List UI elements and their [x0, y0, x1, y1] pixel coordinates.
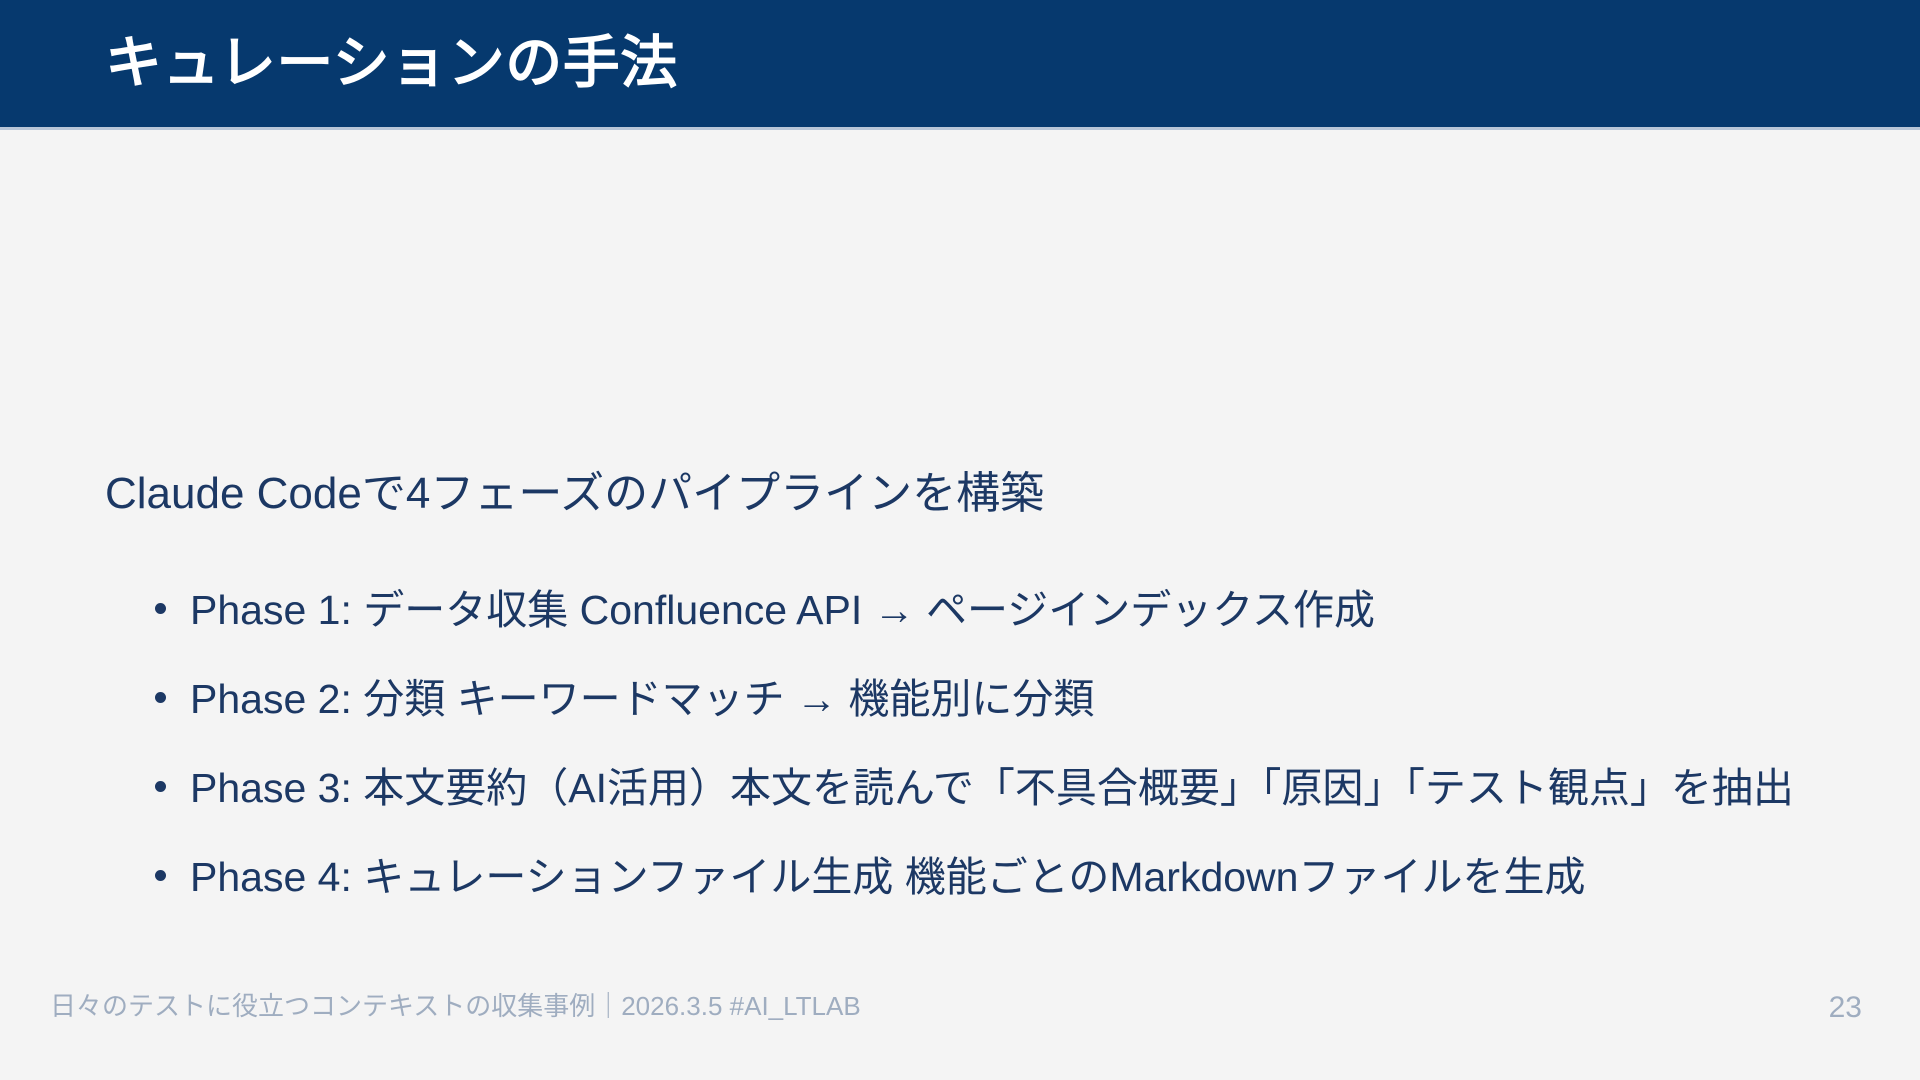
list-item: Phase 2: 分類 キーワードマッチ → 機能別に分類: [155, 652, 1794, 741]
presentation-slide: キュレーションの手法 Claude Codeで4フェーズのパイプラインを構築 P…: [0, 0, 1920, 1080]
footer-caption: 日々のテストに役立つコンテキストの収集事例｜2026.3.5 #AI_LTLAB: [50, 991, 861, 1022]
page-title: キュレーションの手法: [0, 34, 678, 94]
bullet-dot-icon: [155, 870, 166, 881]
page-number: 23: [1829, 990, 1862, 1026]
bullet-dot-icon: [155, 781, 166, 792]
list-item-label: Phase 1: データ収集 Confluence API → ページインデック…: [190, 586, 1375, 635]
list-item-label: Phase 4: キュレーションファイル生成 機能ごとのMarkdownファイル…: [190, 853, 1585, 902]
slide-body: Claude Codeで4フェーズのパイプラインを構築 Phase 1: データ…: [0, 130, 1920, 990]
list-item: Phase 1: データ収集 Confluence API → ページインデック…: [155, 563, 1794, 652]
phase-bullet-list: Phase 1: データ収集 Confluence API → ページインデック…: [155, 563, 1794, 919]
list-item-label: Phase 3: 本文要約（AI活用）本文を読んで「不具合概要」「原因」「テスト…: [190, 764, 1794, 813]
list-item-label: Phase 2: 分類 キーワードマッチ → 機能別に分類: [190, 675, 1094, 724]
bullet-dot-icon: [155, 603, 166, 614]
lead-statement: Claude Codeで4フェーズのパイプラインを構築: [105, 466, 1044, 521]
slide-header-bar: キュレーションの手法: [0, 0, 1920, 127]
list-item: Phase 4: キュレーションファイル生成 機能ごとのMarkdownファイル…: [155, 830, 1794, 919]
list-item: Phase 3: 本文要約（AI活用）本文を読んで「不具合概要」「原因」「テスト…: [155, 741, 1794, 830]
slide-footer: 日々のテストに役立つコンテキストの収集事例｜2026.3.5 #AI_LTLAB…: [0, 990, 1920, 1080]
bullet-dot-icon: [155, 692, 166, 703]
